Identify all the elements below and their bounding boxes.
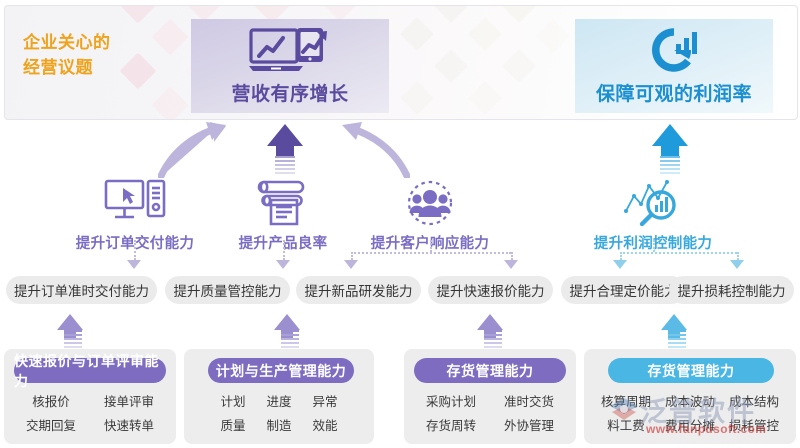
pill-label: 提升快速报价能力	[437, 280, 545, 300]
card-item: 快速转单	[90, 415, 168, 434]
pill-label: 提升质量管控能力	[174, 280, 282, 300]
card-title: 计划与生产管理能力	[208, 358, 354, 383]
card-item: 接单评审	[90, 391, 168, 410]
monitor-cursor-server-icon	[60, 172, 210, 228]
card-item: 成本结构	[722, 391, 786, 410]
card-items: 采购计划 准时交货 存货周转 外协管理	[412, 391, 568, 434]
infographic-canvas: 企业关心的 经营议题	[0, 0, 800, 448]
pill-label: 提升损耗控制能力	[678, 280, 786, 300]
pill-label: 提升合理定价能力	[570, 280, 678, 300]
pill-label: 提升新品研发能力	[305, 280, 413, 300]
kpi-card-revenue[interactable]: 营收有序增长	[191, 19, 389, 113]
pill-new-product-rnd[interactable]: 提升新品研发能力	[296, 276, 421, 304]
laptop-mobile-growth-chart-icon	[191, 25, 389, 77]
ladder-connector-card-1	[64, 330, 82, 350]
card-title-label: 计划与生产管理能力	[216, 361, 347, 381]
card-item: 外协管理	[490, 415, 568, 434]
card-title-label: 存货管理能力	[648, 361, 735, 381]
card-cost-management[interactable]: 存货管理能力 核算周期 成本波动 成本结构 料工费 费用分摊 损耗管控	[584, 349, 796, 444]
kpi-label-profit: 保障可观的利润率	[575, 79, 773, 106]
card-item: 计划	[210, 391, 256, 410]
card-title: 存货管理能力	[414, 358, 566, 383]
card-title: 存货管理能力	[608, 358, 774, 383]
card-item: 成本波动	[658, 391, 722, 410]
card-inventory-management[interactable]: 存货管理能力 采购计划 准时交货 存货周转 外协管理	[404, 349, 576, 444]
arrow-up-revenue-center	[267, 124, 303, 156]
card-item: 采购计划	[412, 391, 490, 410]
card-item: 进度	[256, 391, 302, 410]
document-scroll-icon	[208, 172, 358, 228]
kpi-label-revenue: 营收有序增长	[191, 79, 389, 106]
pill-loss-control[interactable]: 提升损耗控制能力	[669, 276, 794, 304]
card-items: 计划 进度 异常 质量 制造 效能	[210, 391, 348, 434]
card-item: 核算周期	[594, 391, 658, 410]
ladder-connector-card-3	[484, 330, 502, 350]
card-item: 交期回复	[12, 415, 90, 434]
card-item: 质量	[210, 415, 256, 434]
pill-order-on-time-delivery[interactable]: 提升订单准时交付能力	[6, 276, 157, 304]
pill-label: 提升订单准时交付能力	[14, 280, 149, 300]
card-items: 核报价 接单评审 交期回复 快速转单	[12, 391, 168, 434]
card-item: 制造	[256, 415, 302, 434]
card-title: 快速报价与订单评审能力	[14, 358, 166, 383]
card-item: 异常	[302, 391, 348, 410]
arrow-up-profit	[652, 124, 688, 156]
card-title-label: 快速报价与订单评审能力	[14, 351, 166, 391]
users-group-icon	[355, 172, 505, 228]
donut-bar-chart-icon	[575, 25, 773, 77]
card-item: 存货周转	[412, 415, 490, 434]
magnifier-analytics-icon	[578, 172, 728, 228]
card-item: 费用分摊	[658, 415, 722, 434]
kpi-card-profit[interactable]: 保障可观的利润率	[575, 19, 773, 113]
card-item: 核报价	[12, 391, 90, 410]
pill-fast-quotation[interactable]: 提升快速报价能力	[428, 276, 553, 304]
header-title-line1: 企业关心的	[23, 30, 163, 55]
card-item: 效能	[302, 415, 348, 434]
pill-quality-control[interactable]: 提升质量管控能力	[165, 276, 290, 304]
pill-reasonable-pricing[interactable]: 提升合理定价能力	[561, 276, 686, 304]
header-title-line2: 经营议题	[23, 55, 163, 80]
header-panel: 企业关心的 经营议题	[4, 5, 798, 120]
card-title-label: 存货管理能力	[447, 361, 534, 381]
card-item: 损耗管控	[722, 415, 786, 434]
card-plan-production-management[interactable]: 计划与生产管理能力 计划 进度 异常 质量 制造 效能	[184, 349, 374, 444]
ladder-connector-card-2	[281, 330, 299, 350]
ladder-connector-card-4	[668, 330, 686, 350]
header-title: 企业关心的 经营议题	[23, 30, 163, 80]
card-item: 准时交货	[490, 391, 568, 410]
card-quotation-order-review[interactable]: 快速报价与订单评审能力 核报价 接单评审 交期回复 快速转单	[4, 349, 176, 444]
card-items: 核算周期 成本波动 成本结构 料工费 费用分摊 损耗管控	[594, 391, 786, 434]
card-item: 料工费	[594, 415, 658, 434]
